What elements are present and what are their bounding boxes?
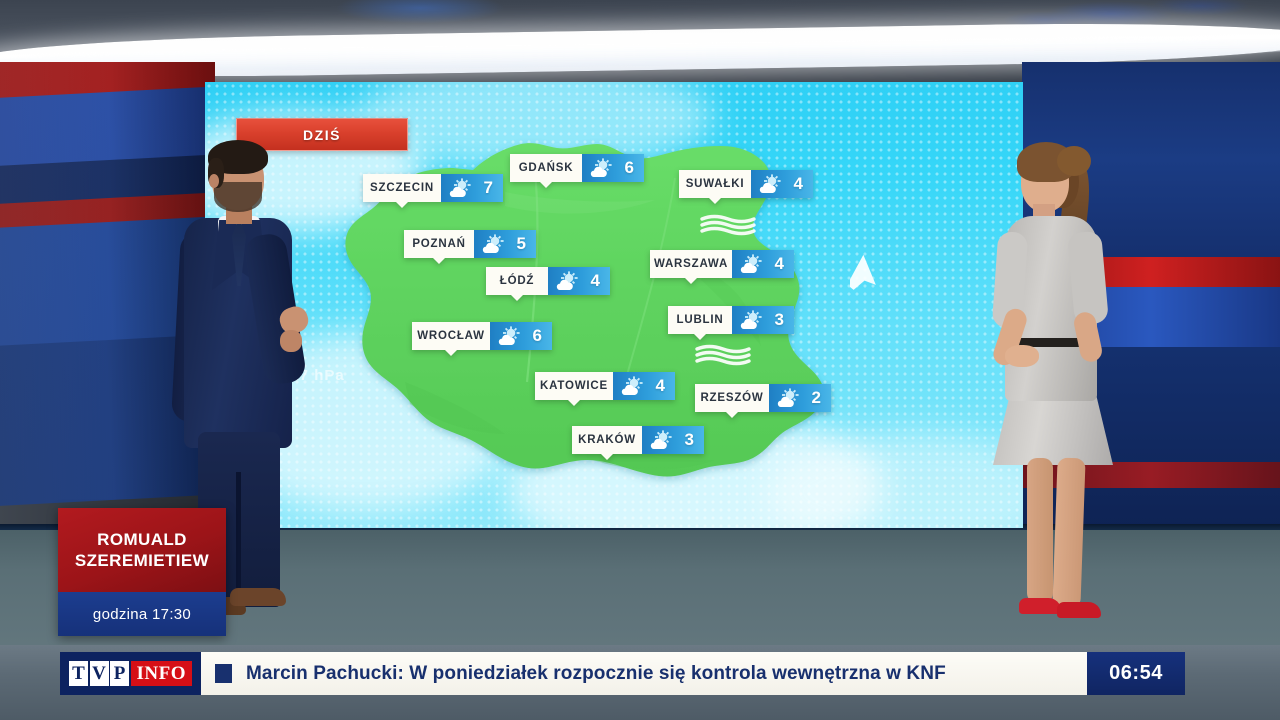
city-temperature: 3 — [685, 430, 694, 450]
city-label-warszawa[interactable]: WARSZAWA 4 — [650, 250, 794, 278]
city-temperature: 4 — [775, 254, 784, 274]
city-nameplate: KRAKÓW — [572, 426, 642, 454]
city-temperature: 4 — [794, 174, 803, 194]
city-temperature: 2 — [812, 388, 821, 408]
wind-lines-icon — [695, 344, 751, 366]
city-temperature-box: 6 — [490, 322, 552, 350]
sun-behind-cloud-icon — [480, 234, 504, 254]
city-label-szczecin[interactable]: SZCZECIN 7 — [363, 174, 503, 202]
city-nameplate: SZCZECIN — [363, 174, 441, 202]
broadcast-screenshot: 027 hPa DZIŚ SZCZECIN — [0, 0, 1280, 720]
square-bullet-icon — [215, 664, 232, 683]
female-weather-presenter — [985, 140, 1135, 645]
sun-behind-cloud-icon — [554, 271, 578, 291]
city-temperature: 6 — [625, 158, 634, 178]
city-temperature-box: 3 — [732, 306, 794, 334]
city-nameplate: LUBLIN — [668, 306, 732, 334]
sun-behind-cloud-icon — [738, 310, 762, 330]
presenter-hand — [280, 330, 302, 352]
city-label-katowice[interactable]: KATOWICE 4 — [535, 372, 675, 400]
city-label-rzeszow[interactable]: RZESZÓW 2 — [695, 384, 831, 412]
logo-letter-t: T — [69, 661, 88, 686]
city-temperature-box: 2 — [769, 384, 831, 412]
city-nameplate: RZESZÓW — [695, 384, 769, 412]
city-temperature-box: 4 — [751, 170, 813, 198]
city-temperature: 4 — [591, 271, 600, 291]
arrow-pointer-icon — [850, 250, 884, 296]
city-label-lublin[interactable]: LUBLIN 3 — [668, 306, 794, 334]
city-temperature: 5 — [517, 234, 526, 254]
ticker-headline: Marcin Pachucki: W poniedziałek rozpoczn… — [246, 663, 946, 685]
guest-last-name: SZEREMIETIEW — [75, 551, 209, 571]
clock-time: 06:54 — [1109, 662, 1163, 685]
city-label-krakow[interactable]: KRAKÓW 3 — [572, 426, 704, 454]
guest-first-name: ROMUALD — [97, 530, 187, 550]
sun-behind-cloud-icon — [588, 158, 612, 178]
city-label-suwalki[interactable]: SUWAŁKI 4 — [679, 170, 813, 198]
city-nameplate: POZNAŃ — [404, 230, 474, 258]
city-temperature-box: 5 — [474, 230, 536, 258]
city-nameplate: GDAŃSK — [510, 154, 582, 182]
city-name: SZCZECIN — [370, 182, 434, 194]
presenter-ear — [209, 174, 219, 188]
city-name: ŁÓDŹ — [500, 275, 535, 287]
city-temperature: 4 — [656, 376, 665, 396]
city-name: SUWAŁKI — [686, 178, 745, 190]
city-temperature: 7 — [484, 178, 493, 198]
city-temperature-box: 6 — [582, 154, 644, 182]
city-temperature-box: 7 — [441, 174, 503, 202]
weather-map-screen: 027 hPa DZIŚ SZCZECIN — [205, 82, 1023, 528]
logo-letter-p: P — [110, 661, 129, 686]
lower-third-name-graphic: ROMUALD SZEREMIETIEW godzina 17:30 — [58, 508, 226, 636]
city-temperature-box: 3 — [642, 426, 704, 454]
logo-letter-v: V — [90, 661, 109, 686]
guest-name-block: ROMUALD SZEREMIETIEW — [58, 508, 226, 592]
city-label-gdansk[interactable]: GDAŃSK 6 — [510, 154, 644, 182]
wind-lines-icon — [700, 214, 756, 236]
city-temperature: 3 — [775, 310, 784, 330]
city-nameplate: WROCŁAW — [412, 322, 490, 350]
sun-behind-cloud-icon — [775, 388, 799, 408]
city-nameplate: SUWAŁKI — [679, 170, 751, 198]
presenter-hands — [1005, 345, 1039, 367]
news-ticker-bar: T V P INFO Marcin Pachucki: W poniedział… — [0, 645, 1280, 720]
city-label-poznan[interactable]: POZNAŃ 5 — [404, 230, 536, 258]
logo-inner: T V P INFO — [69, 661, 192, 686]
logo-word-info: INFO — [131, 661, 193, 686]
city-temperature-box: 4 — [732, 250, 794, 278]
presenter-leg-shadow — [236, 472, 241, 607]
presenter-shoe — [1057, 602, 1101, 618]
city-name: WROCŁAW — [417, 330, 485, 342]
presenter-arm — [1067, 231, 1109, 326]
presenter-beard — [214, 182, 262, 212]
presenter-leg — [1027, 458, 1053, 603]
sun-behind-cloud-icon — [447, 178, 471, 198]
city-name: WARSZAWA — [654, 258, 728, 270]
presenter-shoe — [230, 588, 286, 606]
city-name: KRAKÓW — [578, 434, 636, 446]
sun-behind-cloud-icon — [738, 254, 762, 274]
ticker-row: T V P INFO Marcin Pachucki: W poniedział… — [60, 652, 1185, 695]
presenter-hair-tie — [1057, 146, 1091, 176]
city-name: POZNAŃ — [412, 238, 465, 250]
city-nameplate: WARSZAWA — [650, 250, 732, 278]
city-name: LUBLIN — [677, 314, 724, 326]
sun-behind-cloud-icon — [757, 174, 781, 194]
city-name: RZESZÓW — [700, 392, 763, 404]
sun-behind-cloud-icon — [619, 376, 643, 396]
presenter-shoe — [1019, 598, 1061, 614]
city-label-wroclaw[interactable]: WROCŁAW 6 — [412, 322, 552, 350]
today-banner-label: DZIŚ — [303, 127, 341, 143]
city-temperature-box: 4 — [548, 267, 610, 295]
ticker-headline-area[interactable]: Marcin Pachucki: W poniedziałek rozpoczn… — [201, 652, 1087, 695]
tvp-info-logo[interactable]: T V P INFO — [60, 652, 201, 695]
guest-time-block: godzina 17:30 — [58, 592, 226, 636]
city-temperature: 6 — [533, 326, 542, 346]
ticker-clock: 06:54 — [1087, 652, 1185, 695]
guest-time-label: godzina 17:30 — [93, 606, 191, 623]
city-nameplate: KATOWICE — [535, 372, 613, 400]
city-label-lodz[interactable]: ŁÓDŹ 4 — [486, 267, 610, 295]
city-nameplate: ŁÓDŹ — [486, 267, 548, 295]
city-temperature-box: 4 — [613, 372, 675, 400]
city-name: GDAŃSK — [519, 162, 574, 174]
sun-behind-cloud-icon — [648, 430, 672, 450]
presenter-leg — [1052, 458, 1085, 609]
city-name: KATOWICE — [540, 380, 608, 392]
sun-behind-cloud-icon — [496, 326, 520, 346]
